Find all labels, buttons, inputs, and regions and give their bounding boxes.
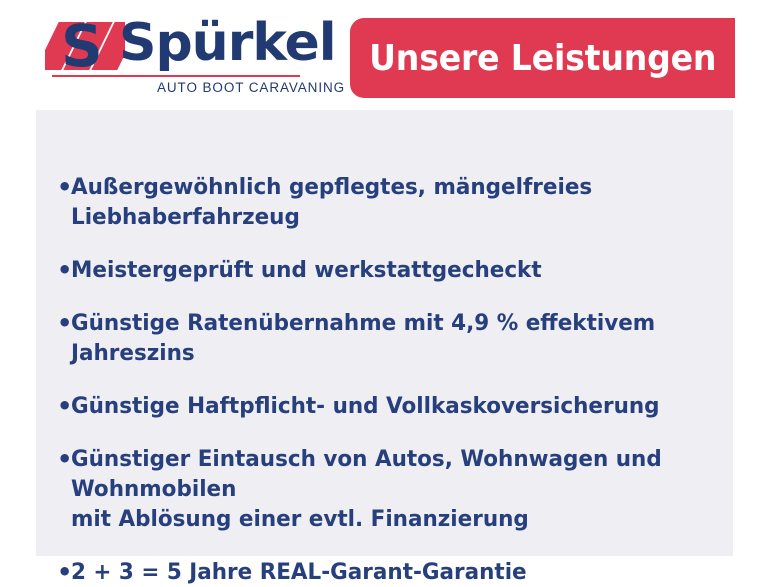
list-item-text: Meistergeprüft und werkstattgecheckt (71, 255, 703, 285)
list-item-text: Günstige Ratenübernahme mit 4,9 % effekt… (71, 308, 703, 368)
list-item-text: Günstiger Eintausch von Autos, Wohnwagen… (71, 444, 703, 534)
bullet-marker-icon: • (57, 391, 71, 421)
slide-header: S Spürkel AUTO BOOT CARAVANING Unsere Le… (0, 0, 768, 110)
content-panel: • Außergewöhnlich gepflegtes, mängelfrei… (36, 110, 733, 556)
logo-brand-name: Spürkel (119, 12, 336, 74)
list-item: • Günstige Ratenübernahme mit 4,9 % effe… (57, 308, 733, 368)
list-item-text: Günstige Haftpflicht- und Vollkaskoversi… (71, 391, 703, 421)
list-item: • Günstige Haftpflicht- und Vollkaskover… (57, 391, 733, 421)
logo-divider-line (52, 75, 300, 77)
list-item: • Günstiger Eintausch von Autos, Wohnwag… (57, 444, 733, 534)
bullet-marker-icon: • (57, 172, 71, 202)
list-item: • 2 + 3 = 5 Jahre REAL-Garant-Garantie (57, 557, 733, 587)
slide-root: S Spürkel AUTO BOOT CARAVANING Unsere Le… (0, 0, 768, 576)
bullet-marker-icon: • (57, 308, 71, 338)
company-logo: S Spürkel AUTO BOOT CARAVANING (45, 18, 300, 98)
logo-s-letter: S (61, 22, 102, 70)
list-item-text: 2 + 3 = 5 Jahre REAL-Garant-Garantie (71, 557, 703, 587)
logo-mark-icon: S (45, 22, 125, 70)
list-item-text: Außergewöhnlich gepflegtes, mängelfreies… (71, 172, 703, 232)
bullet-marker-icon: • (57, 557, 71, 587)
bullet-marker-icon: • (57, 444, 71, 474)
list-item: • Meistergeprüft und werkstattgecheckt (57, 255, 733, 285)
page-title: Unsere Leistungen (369, 38, 716, 79)
title-banner: Unsere Leistungen (350, 18, 735, 98)
list-item: • Außergewöhnlich gepflegtes, mängelfrei… (57, 172, 733, 232)
services-bullet-list: • Außergewöhnlich gepflegtes, mängelfrei… (57, 172, 733, 587)
logo-tagline: AUTO BOOT CARAVANING (157, 80, 345, 95)
bullet-marker-icon: • (57, 255, 71, 285)
